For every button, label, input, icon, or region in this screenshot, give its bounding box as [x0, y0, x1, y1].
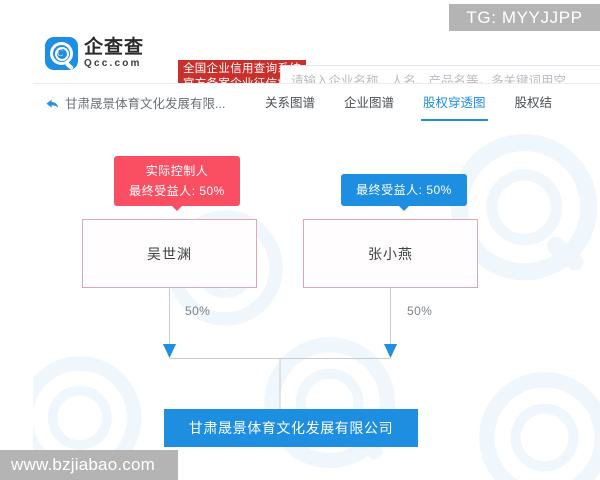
- breadcrumb[interactable]: 甘肃晟景体育文化发展有限...: [45, 95, 225, 113]
- qcc-logo-icon: C: [45, 37, 78, 70]
- ownership-diagram: 实际控制人 最终受益人: 50% 最终受益人: 50% 吴世渊 张小燕 50% …: [33, 126, 600, 480]
- site-header: C 企查查 Qcc.com 全国企业信用查询系统 官方备案企业征信机构: [33, 22, 600, 84]
- node-company[interactable]: 甘肃晟景体育文化发展有限公司: [164, 409, 418, 447]
- edge-label-left: 50%: [185, 304, 210, 318]
- back-arrow-icon: [45, 97, 59, 111]
- nav-row: 甘肃晟景体育文化发展有限... 关系图谱 企业图谱 股权穿透图 股权结: [33, 84, 600, 126]
- screenshot-root: C 企查查 Qcc.com 全国企业信用查询系统 官方备案企业征信机构: [0, 0, 600, 480]
- telegram-watermark: TG: MYYJJPP: [449, 4, 600, 31]
- tag-actual-controller-line1: 实际控制人: [146, 161, 209, 181]
- tab-relationship-graph[interactable]: 关系图谱: [265, 93, 315, 121]
- tab-bar: 关系图谱 企业图谱 股权穿透图 股权结: [265, 93, 552, 121]
- breadcrumb-label: 甘肃晟景体育文化发展有限...: [65, 95, 225, 113]
- tag-actual-controller[interactable]: 实际控制人 最终受益人: 50%: [114, 156, 240, 206]
- tab-enterprise-graph[interactable]: 企业图谱: [344, 93, 394, 121]
- tab-equity-penetration[interactable]: 股权穿透图: [423, 93, 486, 121]
- edge-label-right: 50%: [407, 304, 432, 318]
- page-body: C 企查查 Qcc.com 全国企业信用查询系统 官方备案企业征信机构: [33, 22, 600, 480]
- node-person-right[interactable]: 张小燕: [303, 219, 478, 288]
- brand-logo[interactable]: C 企查查 Qcc.com: [45, 37, 144, 70]
- tag-actual-controller-line2: 最终受益人: 50%: [129, 181, 225, 201]
- site-watermark: www.bzjiabao.com: [0, 450, 178, 480]
- brand-text: 企查查 Qcc.com: [84, 38, 144, 70]
- diagram-canvas: 实际控制人 最终受益人: 50% 最终受益人: 50% 吴世渊 张小燕 50% …: [33, 126, 600, 480]
- tab-equity-structure[interactable]: 股权结: [515, 93, 553, 121]
- tag-pointer-icon: [399, 206, 409, 211]
- brand-name-en: Qcc.com: [84, 58, 144, 70]
- tag-pointer-icon: [172, 206, 182, 211]
- tag-final-beneficiary-line1: 最终受益人: 50%: [356, 180, 452, 200]
- tag-final-beneficiary[interactable]: 最终受益人: 50%: [341, 174, 467, 206]
- brand-name-cn: 企查查: [84, 38, 144, 58]
- node-person-left[interactable]: 吴世渊: [82, 219, 257, 288]
